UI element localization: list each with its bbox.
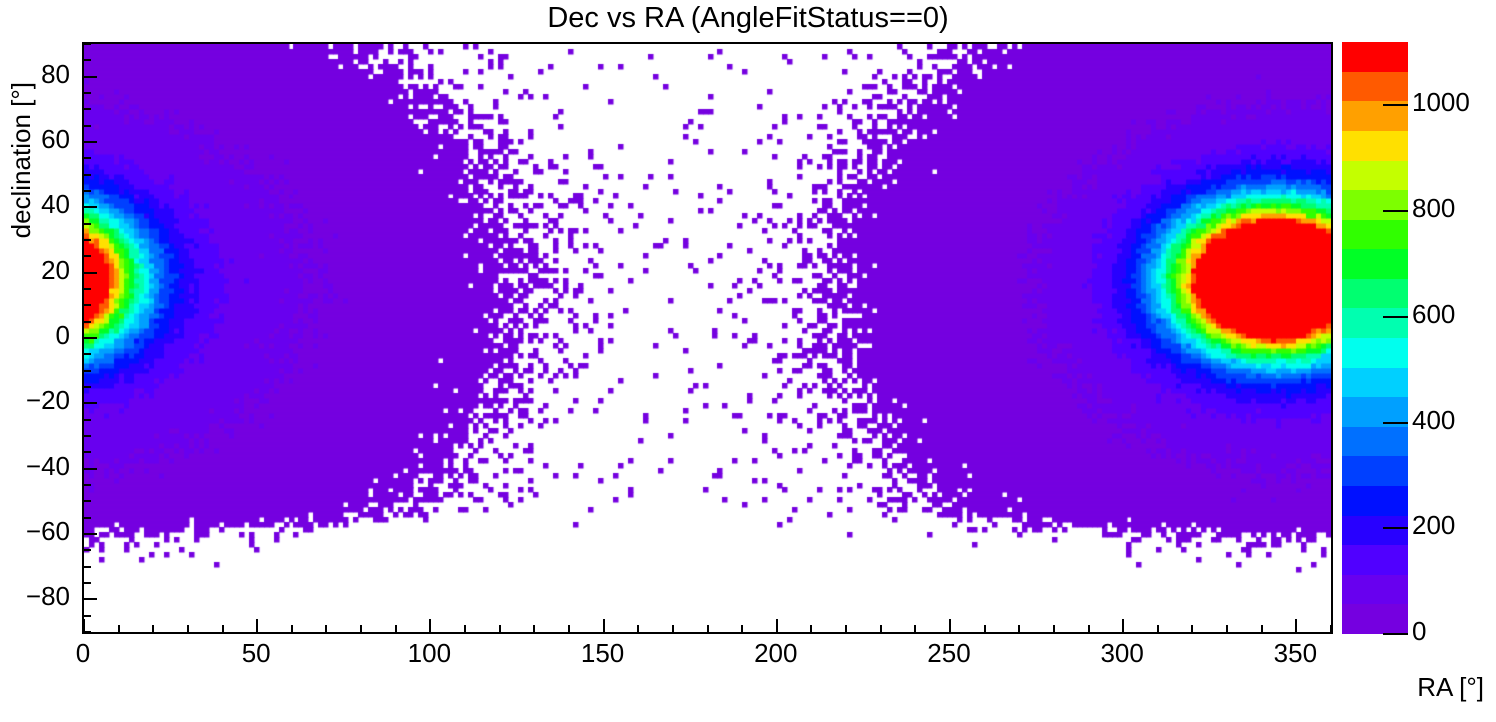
y-minor-tick <box>83 353 91 355</box>
colorbar-band <box>1342 131 1408 161</box>
y-minor-tick <box>83 419 91 421</box>
plot-frame <box>82 42 1333 634</box>
y-minor-tick <box>83 451 91 453</box>
y-minor-tick <box>83 566 91 568</box>
x-minor-tick <box>1226 625 1228 633</box>
colorbar-tick <box>1383 422 1408 424</box>
colorbar-tick-label: 200 <box>1412 510 1455 541</box>
x-minor-tick <box>187 625 189 633</box>
colorbar-tick-label: 800 <box>1412 193 1455 224</box>
x-major-tick <box>1295 619 1297 633</box>
colorbar-band <box>1342 604 1408 634</box>
x-minor-tick <box>914 625 916 633</box>
x-minor-tick <box>845 625 847 633</box>
y-minor-tick <box>83 484 91 486</box>
x-major-tick <box>776 619 778 633</box>
y-tick-label: −80 <box>0 581 70 612</box>
y-minor-tick <box>83 223 91 225</box>
x-minor-tick <box>1088 625 1090 633</box>
y-minor-tick <box>83 255 91 257</box>
x-minor-tick <box>360 625 362 633</box>
x-tick-label: 200 <box>754 638 797 669</box>
y-tick-label: −20 <box>0 385 70 416</box>
y-minor-tick <box>83 500 91 502</box>
x-minor-tick <box>222 625 224 633</box>
y-minor-tick <box>83 370 91 372</box>
colorbar-band <box>1342 249 1408 279</box>
y-minor-tick <box>83 92 91 94</box>
y-axis-title-wrap: declination [°] <box>12 40 46 340</box>
colorbar-band <box>1342 161 1408 191</box>
x-tick-label: 300 <box>1100 638 1143 669</box>
y-minor-tick <box>83 582 91 584</box>
colorbar-band <box>1342 486 1408 516</box>
y-minor-tick <box>83 125 91 127</box>
y-major-tick <box>83 272 97 274</box>
y-minor-tick <box>83 43 91 45</box>
colorbar-band <box>1342 42 1408 72</box>
y-minor-tick <box>83 108 91 110</box>
y-major-tick <box>83 598 97 600</box>
colorbar-band <box>1342 545 1408 575</box>
y-major-tick <box>83 141 97 143</box>
colorbar-band <box>1342 72 1408 102</box>
y-minor-tick <box>83 549 91 551</box>
x-minor-tick <box>880 625 882 633</box>
x-minor-tick <box>810 625 812 633</box>
x-major-tick <box>256 619 258 633</box>
y-minor-tick <box>83 435 91 437</box>
x-minor-tick <box>118 625 120 633</box>
x-minor-tick <box>1018 625 1020 633</box>
y-minor-tick <box>83 239 91 241</box>
colorbar-band <box>1342 427 1408 457</box>
y-minor-tick <box>83 615 91 617</box>
x-tick-label: 100 <box>408 638 451 669</box>
histogram-canvas <box>84 44 1331 632</box>
y-major-tick <box>83 206 97 208</box>
x-minor-tick <box>672 625 674 633</box>
y-tick-label: −40 <box>0 451 70 482</box>
y-major-tick <box>83 337 97 339</box>
colorbar-band <box>1342 516 1408 546</box>
y-minor-tick <box>83 174 91 176</box>
colorbar-tick <box>1383 527 1408 529</box>
x-minor-tick <box>152 625 154 633</box>
colorbar-band <box>1342 220 1408 250</box>
colorbar-tick-label: 400 <box>1412 405 1455 436</box>
colorbar-band <box>1342 190 1408 220</box>
colorbar-tick <box>1383 316 1408 318</box>
y-minor-tick <box>83 517 91 519</box>
colorbar-band <box>1342 368 1408 398</box>
x-minor-tick <box>291 625 293 633</box>
x-minor-tick <box>533 625 535 633</box>
colorbar-tick <box>1383 210 1408 212</box>
page-title: Dec vs RA (AngleFitStatus==0) <box>0 2 1496 35</box>
colorbar <box>1342 42 1408 634</box>
y-major-tick <box>83 468 97 470</box>
colorbar-tick-label: 1000 <box>1412 87 1470 118</box>
x-minor-tick <box>499 625 501 633</box>
colorbar-band <box>1342 338 1408 368</box>
x-tick-label: 0 <box>76 638 90 669</box>
x-minor-tick <box>1191 625 1193 633</box>
x-minor-tick <box>1157 625 1159 633</box>
colorbar-band <box>1342 279 1408 309</box>
y-major-tick <box>83 76 97 78</box>
y-minor-tick <box>83 59 91 61</box>
root-plot-canvas: Dec vs RA (AngleFitStatus==0) 0501001502… <box>0 0 1496 722</box>
x-tick-label: 150 <box>581 638 624 669</box>
y-axis-title: declination [°] <box>6 82 37 238</box>
colorbar-tick-label: 0 <box>1412 616 1426 647</box>
x-major-tick <box>1122 619 1124 633</box>
x-minor-tick <box>464 625 466 633</box>
colorbar-tick-label: 600 <box>1412 299 1455 330</box>
x-tick-label: 350 <box>1274 638 1317 669</box>
x-major-tick <box>429 619 431 633</box>
x-minor-tick <box>1330 625 1332 633</box>
x-tick-label: 50 <box>242 638 271 669</box>
y-major-tick <box>83 533 97 535</box>
colorbar-band <box>1342 575 1408 605</box>
y-minor-tick <box>83 157 91 159</box>
x-major-tick <box>949 619 951 633</box>
x-tick-label: 250 <box>927 638 970 669</box>
x-minor-tick <box>637 625 639 633</box>
colorbar-tick <box>1383 633 1408 635</box>
x-minor-tick <box>984 625 986 633</box>
y-minor-tick <box>83 288 91 290</box>
x-minor-tick <box>1261 625 1263 633</box>
y-minor-tick <box>83 386 91 388</box>
y-minor-tick <box>83 321 91 323</box>
x-minor-tick <box>707 625 709 633</box>
x-minor-tick <box>395 625 397 633</box>
y-minor-tick <box>83 304 91 306</box>
x-minor-tick <box>568 625 570 633</box>
x-minor-tick <box>1053 625 1055 633</box>
y-major-tick <box>83 402 97 404</box>
x-minor-tick <box>325 625 327 633</box>
y-minor-tick <box>83 190 91 192</box>
x-major-tick <box>603 619 605 633</box>
y-tick-label: −60 <box>0 516 70 547</box>
x-axis-title: RA [°] <box>1417 672 1484 703</box>
x-minor-tick <box>741 625 743 633</box>
y-minor-tick <box>83 631 91 633</box>
colorbar-tick <box>1383 104 1408 106</box>
colorbar-band <box>1342 456 1408 486</box>
colorbar-band <box>1342 308 1408 338</box>
